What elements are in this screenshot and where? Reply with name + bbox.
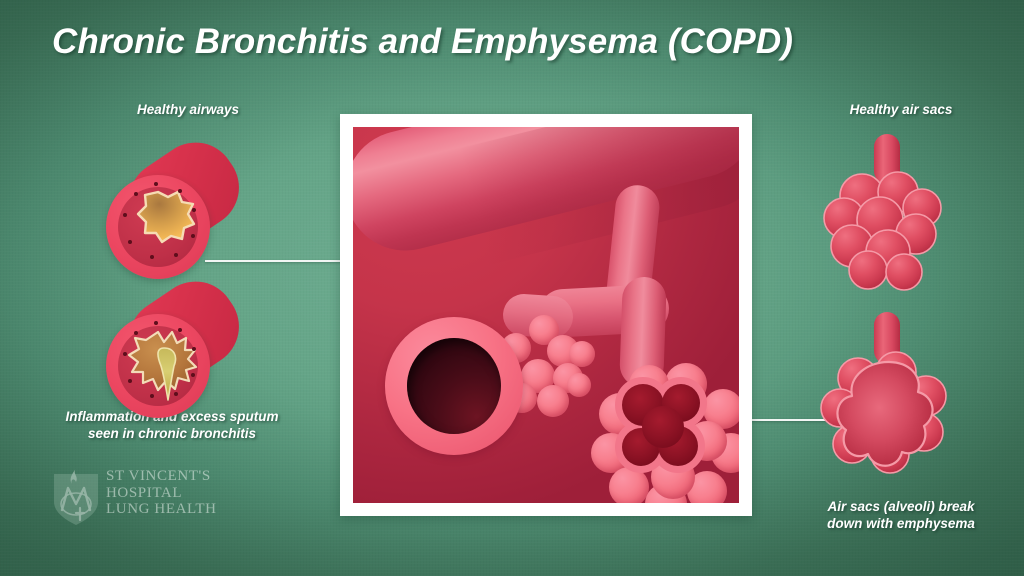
airway-gland-dot <box>154 182 158 186</box>
label-healthy-airways: Healthy airways <box>68 101 308 118</box>
figure-damaged-air-sacs <box>818 312 968 487</box>
slide-canvas: Chronic Bronchitis and Emphysema (COPD) … <box>0 0 1024 576</box>
airway-gland-dot <box>178 189 182 193</box>
airway-gland-dot <box>174 253 178 257</box>
alveolus <box>567 373 591 397</box>
airway-gland-dot <box>134 192 138 196</box>
airway-gland-dot <box>191 234 195 238</box>
shield-icon <box>50 466 102 528</box>
figure-healthy-air-sacs <box>818 134 968 304</box>
airway-gland-dot <box>128 240 132 244</box>
damaged-alveoli-svg <box>818 312 968 487</box>
alveolus <box>537 385 569 417</box>
airway-gland-dot <box>123 213 127 217</box>
page-title: Chronic Bronchitis and Emphysema (COPD) <box>52 22 793 62</box>
airway-gland-dot <box>192 208 196 212</box>
airway-gland-dot <box>123 352 127 356</box>
airway-gland-dot <box>128 379 132 383</box>
label-emphysema: Air sacs (alveoli) break down with emphy… <box>790 498 1012 532</box>
figure-inflamed-airway <box>98 288 248 428</box>
airway-gland-dot <box>150 394 154 398</box>
bronchus-lumen <box>407 338 501 434</box>
airway-gland-dot <box>178 328 182 332</box>
airway-gland-dot <box>150 255 154 259</box>
airway-gland-dot <box>191 373 195 377</box>
airway-gland-dot <box>174 392 178 396</box>
airway-lumen-inflamed <box>98 288 248 428</box>
airway-gland-dot <box>134 331 138 335</box>
logo-wordmark: ST VINCENT'S HOSPITAL LUNG HEALTH <box>106 468 217 518</box>
bronchus-scene <box>353 127 739 503</box>
healthy-alveoli-svg <box>818 134 968 304</box>
center-illustration-panel <box>340 114 752 516</box>
alveolar-cavity-space <box>642 406 684 448</box>
alveolar-cavity <box>615 377 711 473</box>
figure-healthy-airway <box>98 145 248 290</box>
bronchus-shading <box>458 127 739 265</box>
logo-st-vincents: ST VINCENT'S HOSPITAL LUNG HEALTH <box>50 466 240 532</box>
airway-gland-dot <box>192 347 196 351</box>
alveoli-cluster-damaged <box>591 359 739 503</box>
airway-gland-dot <box>154 321 158 325</box>
airway-lumen-healthy <box>98 145 248 290</box>
label-healthy-air-sacs: Healthy air sacs <box>790 101 1012 118</box>
bronchus-cut-ring <box>385 317 523 455</box>
